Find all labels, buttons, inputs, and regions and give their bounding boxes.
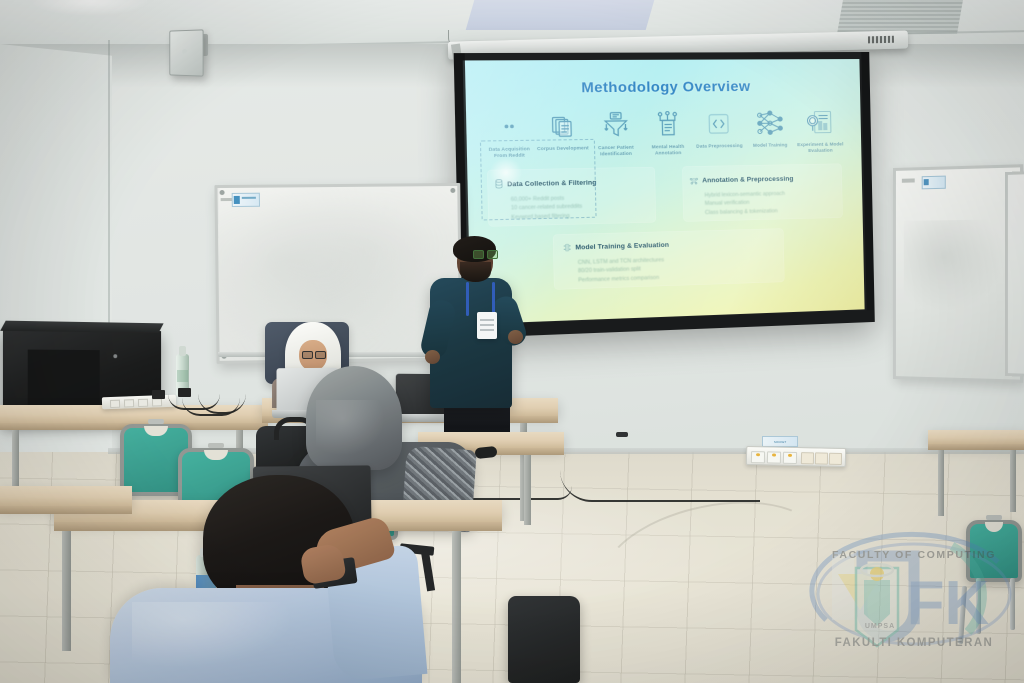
- card-1-bullet-1: 60,000+ Reddit posts: [511, 194, 648, 203]
- presenter-left-hand: [425, 350, 440, 364]
- pipeline-glow: [489, 157, 523, 189]
- pipeline-step-4: Mental Health Annotation: [641, 107, 694, 157]
- pipeline-step-5: Data Preprocessing: [693, 106, 745, 150]
- card-1-title: Data Collection & Filtering: [507, 179, 596, 188]
- slide-cards: Data Collection & Filtering 60,000+ Redd…: [487, 164, 844, 292]
- report-chart-icon: [795, 105, 845, 140]
- card-2-bullet-1: Hybrid lexicon-semantic approach: [705, 190, 836, 199]
- right-desk-leg-2: [1010, 450, 1016, 512]
- pipeline-label-5: Data Preprocessing: [694, 143, 745, 150]
- front-desk-leg-1: [62, 531, 71, 651]
- presenter-right-hand: [508, 330, 523, 344]
- watermark-bottom-text: FAKULTI KOMPUTERAN: [835, 637, 994, 649]
- right-whiteboard-far: [1005, 171, 1024, 378]
- right-whiteboard-upper: [893, 164, 1023, 383]
- pipeline-label-7: Experiment & Model Evaluation: [795, 141, 845, 154]
- housing-brand-badge: [868, 36, 894, 44]
- classroom-scene: Methodology Overview Data Acquisition Fr…: [0, 0, 1024, 683]
- attendee-1-glasses-icon: [302, 351, 324, 358]
- chip-icon: [562, 239, 571, 258]
- card-1-head: Data Collection & Filtering: [495, 173, 648, 195]
- floor-power-cable: [560, 470, 760, 502]
- card-1-bullet-2: 10 cancer-related subreddits: [511, 202, 648, 211]
- watermark-logo-text: FK: [907, 569, 990, 638]
- card-3-head: Model Training & Evaluation: [562, 233, 775, 258]
- presenter-name-badge: [477, 312, 497, 339]
- slide-card-row: Data Collection & Filtering 60,000+ Redd…: [487, 164, 843, 226]
- neural-network-icon: [744, 106, 795, 141]
- pipeline-label-4: Mental Health Annotation: [642, 144, 694, 158]
- projector-screen: Methodology Overview Data Acquisition Fr…: [454, 52, 875, 338]
- watermark-shield-text: UMPSA: [865, 623, 895, 630]
- pipeline-step-7: Experiment & Model Evaluation: [795, 105, 846, 154]
- card-3-bullet-3: Performance metrics comparison: [578, 271, 776, 284]
- tag-cloud-icon: [690, 172, 699, 191]
- funnel-filter-icon: [589, 107, 642, 143]
- card-3-bullet-2: 80/20 train-validation split: [578, 262, 776, 274]
- slide-title: Methodology Overview: [476, 77, 848, 96]
- card-2-head: Annotation & Preprocessing: [690, 169, 836, 190]
- card-model-training: Model Training & Evaluation CNN, LSTM an…: [552, 228, 785, 290]
- documents-stack-icon: [535, 108, 589, 144]
- pipeline-label-6: Model Training: [745, 142, 796, 149]
- pipeline-label-1: Data Acquisition From Reddit: [482, 146, 536, 160]
- card-2-bullet-2: Manual verification: [705, 198, 836, 207]
- clipboard-tag-icon: [641, 107, 694, 143]
- front-desk-left-edge: [0, 506, 132, 514]
- right-whiteboard-sticker: [922, 176, 946, 190]
- card-data-collection: Data Collection & Filtering 60,000+ Redd…: [487, 167, 656, 226]
- whiteboard-asset-sticker: [232, 193, 260, 207]
- presenter-beard: [460, 262, 491, 282]
- slide-surface: Methodology Overview Data Acquisition Fr…: [463, 59, 865, 324]
- pipeline-step-2: Corpus Development: [535, 108, 589, 153]
- floor-bag[interactable]: [508, 596, 580, 683]
- card-1-bullet-3: Keyword based filtering: [511, 211, 648, 221]
- right-whiteboard-brand: [902, 178, 915, 182]
- attendee-grey-hijab: [306, 366, 402, 470]
- pipeline-label-2: Corpus Development: [536, 145, 589, 152]
- ceiling-vent: [837, 0, 963, 34]
- right-desk-leg-1: [938, 450, 944, 516]
- ceiling-light-panel: [466, 0, 655, 30]
- slide-content: Methodology Overview Data Acquisition Fr…: [463, 59, 865, 324]
- pipeline-step-1: Data Acquisition From Reddit: [481, 108, 536, 159]
- watermark-top-text: FACULTY OF COMPUTING: [832, 549, 996, 561]
- wall-speaker-icon: [169, 29, 203, 76]
- power-strip[interactable]: [102, 395, 176, 410]
- database-icon: [495, 175, 503, 194]
- code-brackets-icon: [693, 106, 745, 141]
- mid-desk-leg: [524, 455, 531, 525]
- right-desk-top: [928, 430, 1024, 444]
- presenter-remote[interactable]: [616, 432, 628, 437]
- presenter-glasses-icon: [473, 250, 496, 258]
- pipeline-row: Data Acquisition From Reddit Corpus Deve…: [481, 105, 845, 160]
- pipeline-label-3: Cancer Patient Identification: [589, 144, 642, 158]
- wall-socket-panel[interactable]: [746, 446, 846, 467]
- cable-bundle: [168, 392, 258, 418]
- whiteboard-corner-screw-tl: [220, 190, 225, 195]
- pipeline-step-3: Cancer Patient Identification: [589, 107, 643, 158]
- socket-panel-label: SOCKET: [762, 436, 798, 447]
- card-2-title: Annotation & Preprocessing: [702, 175, 793, 184]
- pipeline-step-6: Model Training: [744, 106, 795, 149]
- power-plug-1: [152, 390, 165, 399]
- right-whiteboard-smudge: [904, 219, 1006, 312]
- front-desk-left-top: [0, 486, 132, 506]
- card-annotation-preprocessing: Annotation & Preprocessing Hybrid lexico…: [682, 164, 843, 221]
- pipeline-dashed-group: [480, 139, 597, 221]
- whiteboard-corner-screw-tr: [450, 188, 455, 193]
- card-2-bullet-3: Class balancing & tokenization: [705, 206, 836, 215]
- card-3-title: Model Training & Evaluation: [575, 242, 669, 252]
- faculty-watermark: FACULTY OF COMPUTING FAKULTI KOMPUTERAN …: [802, 528, 1022, 650]
- front-desk-leg-2: [452, 531, 461, 683]
- presenter-lanyard: [466, 282, 496, 316]
- card-3-bullet-1: CNN, LSTM and TCN architectures: [578, 254, 776, 266]
- whiteboard-brand: [221, 198, 232, 201]
- reddit-dots-icon: [481, 108, 536, 144]
